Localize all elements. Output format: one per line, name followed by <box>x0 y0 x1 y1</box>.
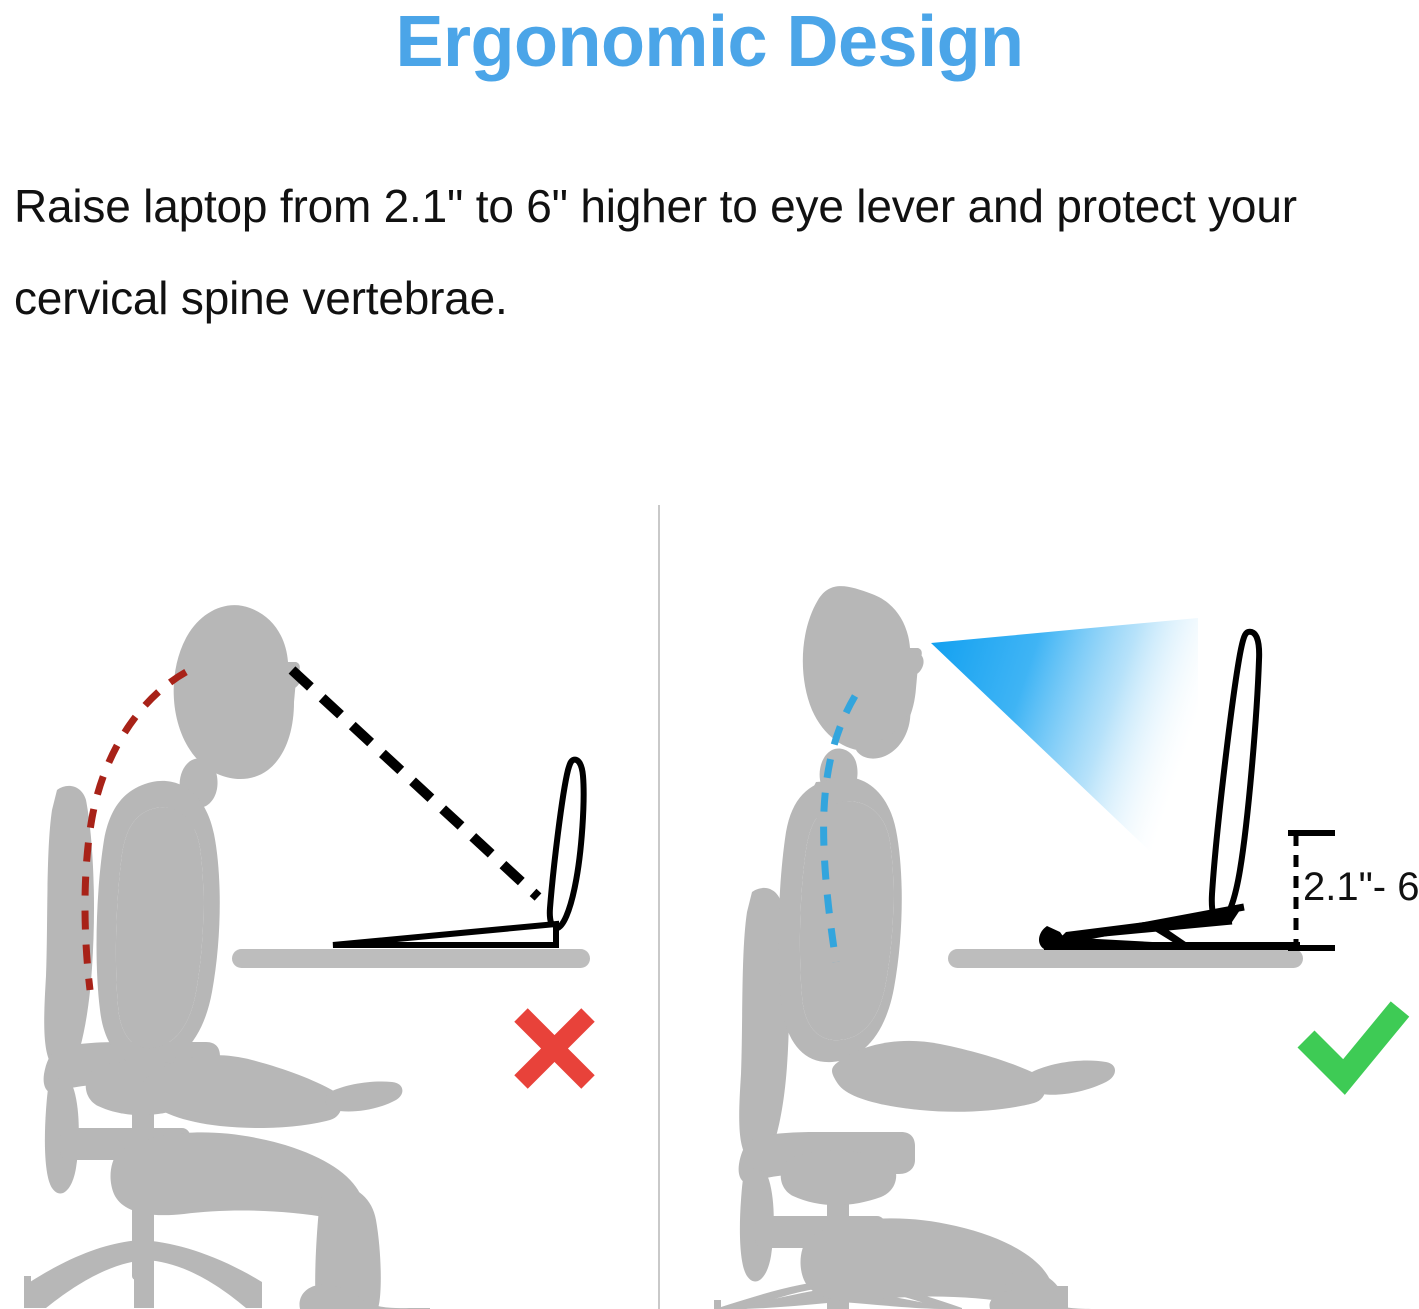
infographic-page: Ergonomic Design Raise laptop from 2.1" … <box>0 0 1419 1309</box>
desk-surface-good <box>948 949 1303 968</box>
page-description: Raise laptop from 2.1" to 6" higher to e… <box>14 160 1389 344</box>
check-icon <box>1306 1009 1400 1077</box>
height-dimension-label: 2.1"- 6" <box>1303 867 1419 907</box>
illustration-area: 2.1"- 6" <box>0 470 1419 1309</box>
laptop-flat <box>333 760 584 945</box>
bad-posture-panel <box>24 605 590 1309</box>
desk-surface-bad <box>232 949 590 968</box>
sight-line-bad <box>292 670 538 897</box>
vision-cone <box>931 618 1198 897</box>
page-title: Ergonomic Design <box>0 0 1419 90</box>
good-posture-panel <box>714 586 1400 1309</box>
cross-icon <box>521 1015 588 1082</box>
